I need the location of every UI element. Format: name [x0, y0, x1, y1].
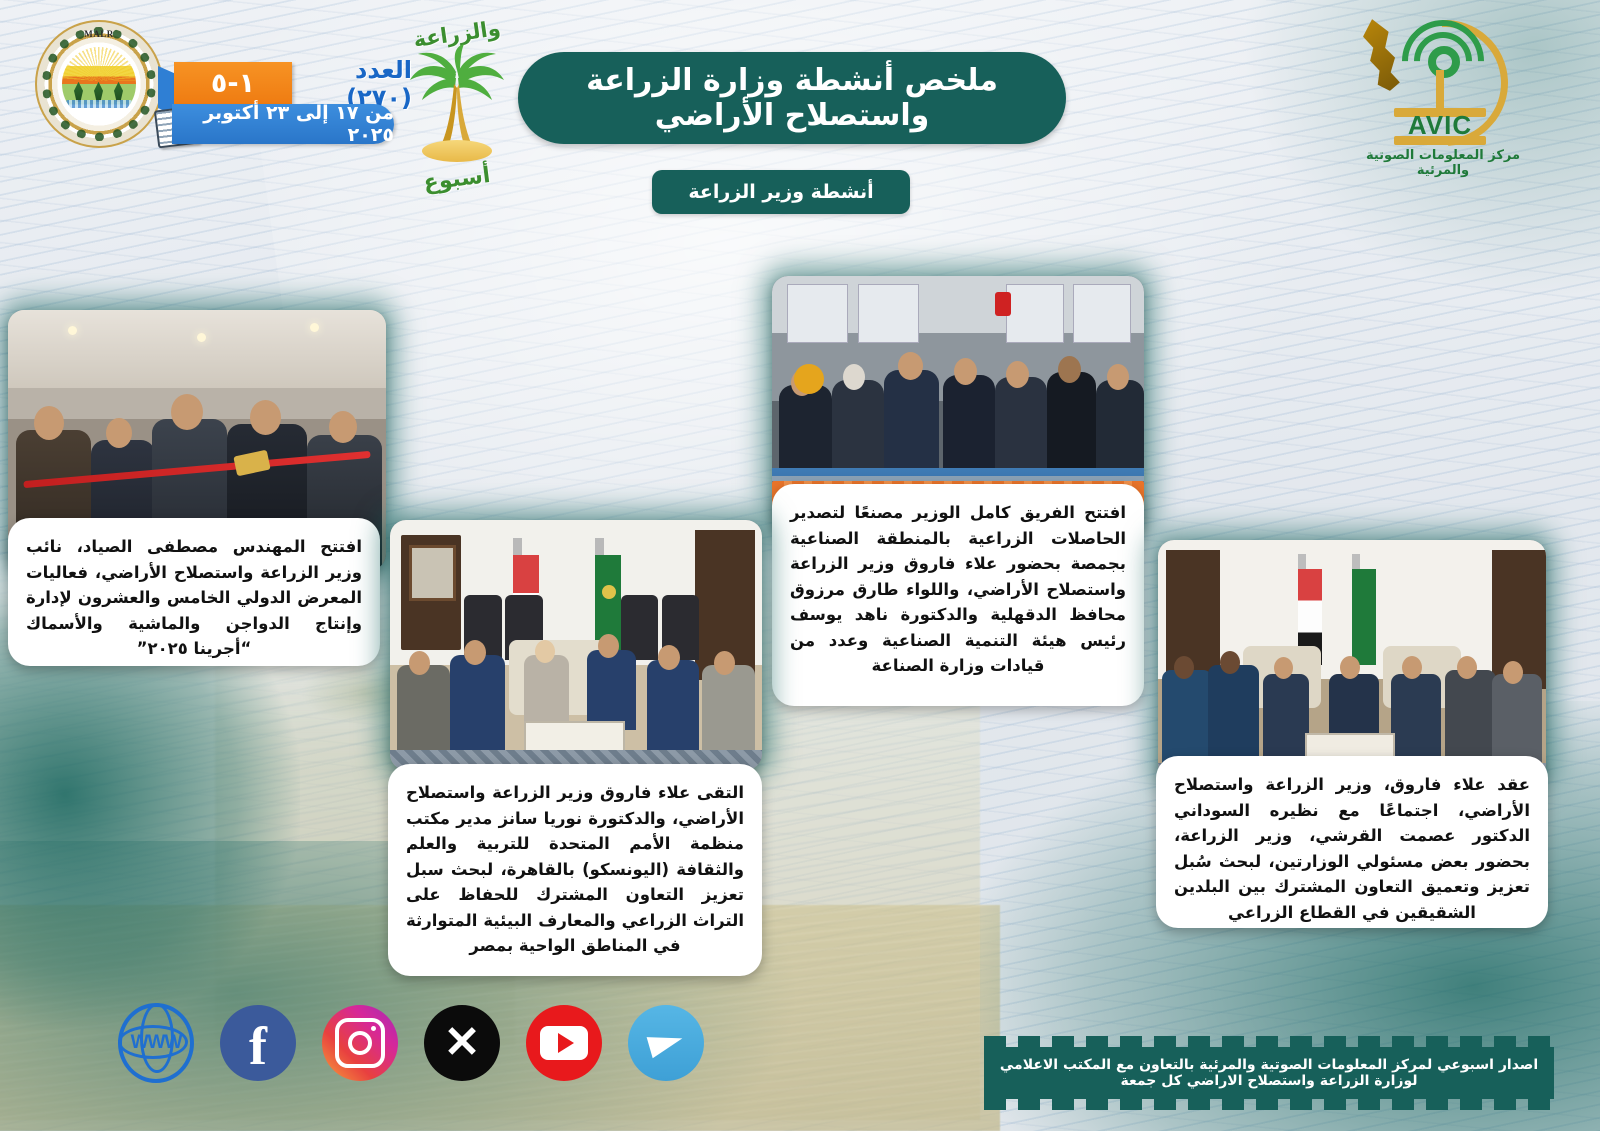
palm-week-logo: والزراعة أسبوع: [392, 18, 522, 190]
water-lines-icon: [66, 100, 131, 108]
cotton-plant-icon: [94, 82, 103, 102]
caption-unesco: التقى علاء فاروق وزير الزراعة واستصلاح ا…: [388, 764, 762, 976]
film-perforation-bottom: [984, 1099, 1554, 1110]
x-glyph: ✕: [444, 1021, 481, 1065]
avic-acronym: AVIC: [1394, 110, 1486, 140]
avic-stem-shape: [1436, 70, 1444, 112]
avic-logo: AVIC مركز المعلومات الصوتية والمرئية: [1352, 8, 1532, 176]
photo-sudan-meeting: [1158, 540, 1546, 780]
emblem-inner-scene: [62, 47, 136, 121]
social-links-row: WWW f ✕: [118, 1005, 738, 1101]
youtube-glyph: [540, 1026, 588, 1060]
youtube-icon[interactable]: [526, 1005, 602, 1081]
caption-exhibition: افتتح المهندس مصطفى الصياد، نائب وزير ال…: [8, 518, 380, 666]
issue-pages-badge: ١-٥: [174, 62, 292, 104]
poster-canvas: MALR ١-٥ العدد (٢٧٠) من ١٧ إلى ٢٣ أكتوبر…: [0, 0, 1600, 1131]
photo-unesco-meeting: [390, 520, 762, 770]
x-icon[interactable]: ✕: [424, 1005, 500, 1081]
caption-factory: افتتح الفريق كامل الوزير مصنعًا لتصدير ا…: [772, 484, 1144, 706]
facebook-glyph: f: [249, 1019, 267, 1073]
emblem-text-top: MALR: [35, 29, 163, 39]
instagram-icon[interactable]: [322, 1005, 398, 1081]
issue-date-range: من ١٧ إلى ٢٣ أكتوبر ٢٠٢٥: [172, 104, 394, 144]
cotton-plant-icon: [114, 82, 123, 102]
footer-text: اصدار اسبوعي لمركز المعلومات الصوتية وال…: [998, 1057, 1540, 1089]
telegram-glyph: [647, 1028, 686, 1059]
caption-sudan: عقد علاء فاروق، وزير الزراعة واستصلاح ال…: [1156, 756, 1548, 928]
malr-emblem: MALR: [35, 20, 163, 148]
palm-sand-mound: [422, 140, 492, 162]
website-icon[interactable]: WWW: [118, 1005, 194, 1081]
film-perforation-top: [984, 1036, 1554, 1047]
sun-rays-icon: [62, 47, 136, 81]
cotton-plant-icon: [74, 82, 83, 102]
facebook-icon[interactable]: f: [220, 1005, 296, 1081]
website-label: WWW: [118, 1032, 194, 1054]
issue-block: ١-٥ العدد (٢٧٠) من ١٧ إلى ٢٣ أكتوبر ٢٠٢٥: [172, 62, 412, 154]
page-title: ملخص أنشطة وزارة الزراعة واستصلاح الأراض…: [518, 52, 1066, 144]
instagram-glyph: [335, 1018, 385, 1068]
footer-banner: اصدار اسبوعي لمركز المعلومات الصوتية وال…: [984, 1047, 1554, 1099]
avic-subtitle: مركز المعلومات الصوتية والمرئية: [1350, 148, 1536, 178]
telegram-icon[interactable]: [628, 1005, 704, 1081]
section-subtitle: أنشطة وزير الزراعة: [652, 170, 910, 214]
